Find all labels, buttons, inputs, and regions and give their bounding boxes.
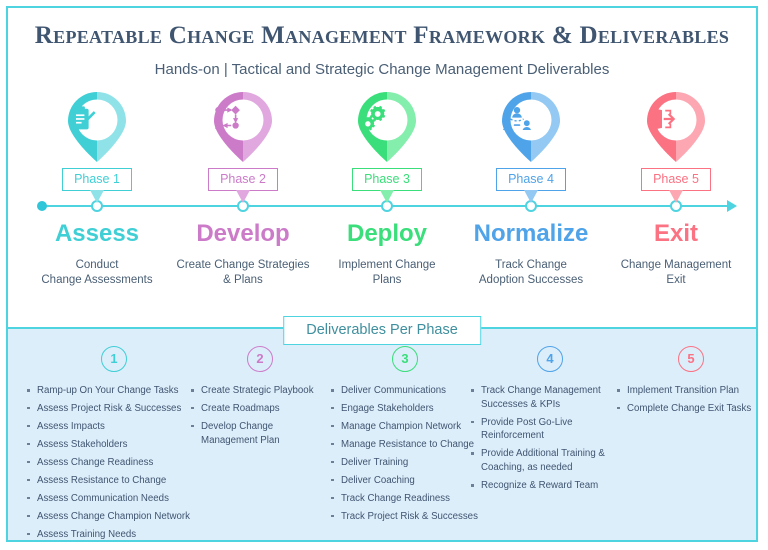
phase-description-2: Create Change Strategies& Plans (167, 258, 319, 289)
phase-description-4: Track ChangeAdoption Successes (455, 258, 607, 289)
header: Repeatable Change Management Framework &… (8, 8, 756, 78)
badge-tail-icon (380, 190, 394, 203)
phase-name-1: Assess (21, 222, 173, 246)
phase-pin-1 (21, 92, 173, 166)
page-title: Repeatable Change Management Framework &… (8, 22, 756, 50)
list-item: Track Change Readiness (330, 492, 480, 506)
map-marker-icon (358, 92, 416, 162)
list-item: Create Roadmaps (190, 402, 330, 416)
phase-4[interactable]: Phase 4NormalizeTrack ChangeAdoption Suc… (455, 92, 607, 289)
list-item: Manage Champion Network (330, 420, 480, 434)
list-item: Track Project Risk & Successes (330, 510, 480, 524)
phase-name-4: Normalize (455, 222, 607, 246)
list-item: Assess Resistance to Change (26, 474, 202, 488)
page-subtitle: Hands-on | Tactical and Strategic Change… (8, 61, 756, 78)
map-marker-icon (68, 92, 126, 162)
list-item: Manage Resistance to Change (330, 438, 480, 452)
list-item: Assess Stakeholders (26, 438, 202, 452)
list-item: Recognize & Reward Team (470, 479, 630, 493)
phase-description-5: Change ManagementExit (600, 258, 752, 289)
phase-number-badge-1: 1 (101, 346, 127, 372)
people-network-icon (502, 105, 560, 133)
phases-row: Phase 1AssessConductChange AssessmentsPh… (8, 92, 756, 288)
workflow-diagram-icon (214, 105, 272, 131)
list-item: Assess Project Risk & Successes (26, 402, 202, 416)
phase-description-1: ConductChange Assessments (21, 258, 173, 289)
list-item: Deliver Coaching (330, 474, 480, 488)
list-item: Create Strategic Playbook (190, 384, 330, 398)
deliverables-header: Deliverables Per Phase (283, 316, 481, 345)
phase-5[interactable]: Phase 5ExitChange ManagementExit (600, 92, 752, 289)
deliverables-column-4: 4Track Change Management Successes & KPI… (470, 329, 630, 497)
phase-number-badge-2: 2 (247, 346, 273, 372)
deliverables-list-4: Track Change Management Successes & KPIs… (470, 384, 630, 493)
list-item: Deliver Training (330, 456, 480, 470)
list-item: Assess Change Readiness (26, 456, 202, 470)
deliverables-list-2: Create Strategic PlaybookCreate Roadmaps… (190, 384, 330, 447)
phase-name-2: Develop (167, 222, 319, 246)
badge-tail-icon (669, 190, 683, 203)
deliverables-column-5: 5Implement Transition PlanComplete Chang… (616, 329, 758, 420)
phase-badge-5[interactable]: Phase 5 (641, 168, 711, 191)
phase-name-3: Deploy (311, 222, 463, 246)
phase-name-5: Exit (600, 222, 752, 246)
phase-badge-3[interactable]: Phase 3 (352, 168, 422, 191)
list-item: Assess Change Champion Network (26, 510, 202, 524)
list-item: Provide Post Go-Live Reinforcement (470, 416, 630, 444)
deliverables-column-2: 2Create Strategic PlaybookCreate Roadmap… (190, 329, 330, 452)
deliverables-column-1: 1Ramp-up On Your Change TasksAssess Proj… (26, 329, 202, 542)
list-item: Ramp-up On Your Change Tasks (26, 384, 202, 398)
deliverables-list-5: Implement Transition PlanComplete Change… (616, 384, 758, 416)
list-item: Assess Communication Needs (26, 492, 202, 506)
list-item: Develop Change Management Plan (190, 420, 330, 448)
phase-number-badge-4: 4 (537, 346, 563, 372)
list-item: Engage Stakeholders (330, 402, 480, 416)
clipboard-pencil-icon (68, 105, 126, 135)
phase-badge-2[interactable]: Phase 2 (208, 168, 278, 191)
exit-door-icon (647, 105, 705, 133)
phase-2[interactable]: Phase 2DevelopCreate Change Strategies& … (167, 92, 319, 289)
phase-pin-2 (167, 92, 319, 166)
map-marker-icon (214, 92, 272, 162)
deliverables-list-1: Ramp-up On Your Change TasksAssess Proje… (26, 384, 202, 542)
phase-1[interactable]: Phase 1AssessConductChange Assessments (21, 92, 173, 289)
badge-tail-icon (524, 190, 538, 203)
gears-icon (358, 105, 416, 133)
list-item: Provide Additional Training & Coaching, … (470, 447, 630, 475)
deliverables-list-3: Deliver CommunicationsEngage Stakeholder… (330, 384, 480, 523)
phase-number-badge-5: 5 (678, 346, 704, 372)
map-marker-icon (502, 92, 560, 162)
phase-badge-1[interactable]: Phase 1 (62, 168, 132, 191)
list-item: Implement Transition Plan (616, 384, 758, 398)
list-item: Deliver Communications (330, 384, 480, 398)
list-item: Complete Change Exit Tasks (616, 402, 758, 416)
deliverables-columns: 1Ramp-up On Your Change TasksAssess Proj… (8, 329, 756, 540)
phase-description-3: Implement ChangePlans (311, 258, 463, 289)
phase-3[interactable]: Phase 3DeployImplement ChangePlans (311, 92, 463, 289)
deliverables-column-3: 3Deliver CommunicationsEngage Stakeholde… (330, 329, 480, 528)
phase-pin-3 (311, 92, 463, 166)
phase-number-badge-3: 3 (392, 346, 418, 372)
list-item: Assess Training Needs (26, 528, 202, 542)
infographic-frame: Repeatable Change Management Framework &… (6, 6, 758, 542)
map-marker-icon (647, 92, 705, 162)
phase-badge-4[interactable]: Phase 4 (496, 168, 566, 191)
phase-pin-4 (455, 92, 607, 166)
list-item: Track Change Management Successes & KPIs (470, 384, 630, 412)
badge-tail-icon (236, 190, 250, 203)
list-item: Assess Impacts (26, 420, 202, 434)
badge-tail-icon (90, 190, 104, 203)
phase-pin-5 (600, 92, 752, 166)
